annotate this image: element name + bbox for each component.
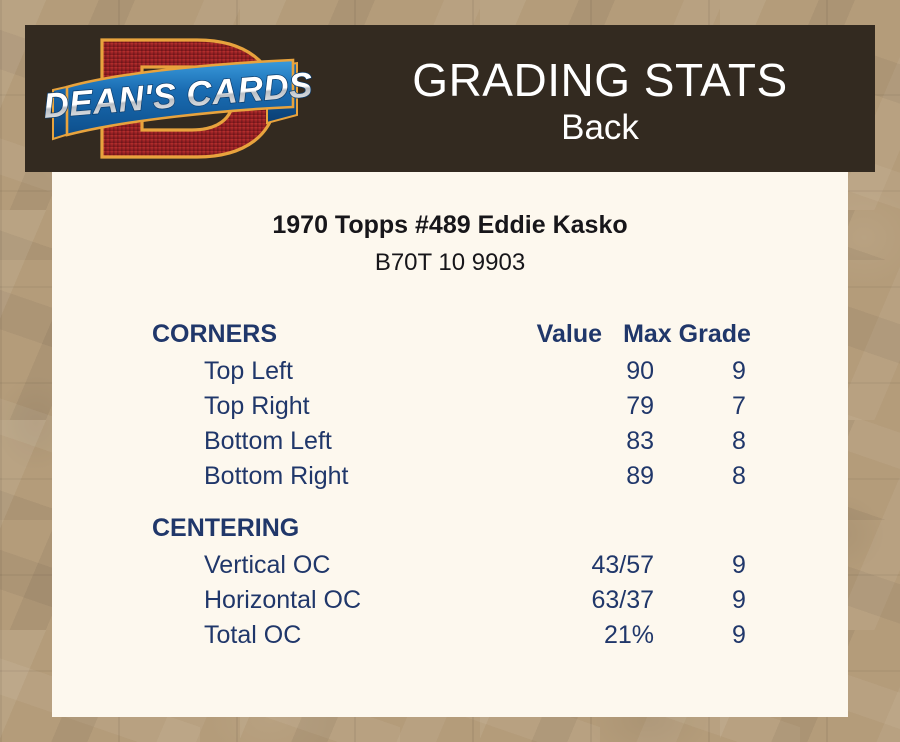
table-row: Top Left 90 9 — [152, 354, 848, 389]
table-row: Top Right 79 7 — [152, 389, 848, 424]
row-max-grade: 8 — [654, 424, 824, 459]
page-subtitle: Back — [561, 106, 639, 150]
row-value: 83 — [524, 424, 654, 459]
grading-stats-page: DEAN'S CARDS GRADING STATS Back 1970 Top… — [0, 0, 900, 742]
row-max-grade: 9 — [654, 354, 824, 389]
table-row: Vertical OC 43/57 9 — [152, 548, 848, 583]
header-bar: DEAN'S CARDS GRADING STATS Back — [25, 25, 875, 172]
row-label: Vertical OC — [152, 548, 524, 583]
section-title-corners: CORNERS — [152, 314, 472, 354]
row-max-grade: 9 — [654, 548, 824, 583]
header-title-block: GRADING STATS Back — [325, 25, 875, 172]
section-title-centering: CENTERING — [152, 508, 472, 548]
row-value: 90 — [524, 354, 654, 389]
section-spacer — [152, 494, 848, 508]
table-row: Bottom Right 89 8 — [152, 459, 848, 494]
row-value: 43/57 — [524, 548, 654, 583]
table-row: Horizontal OC 63/37 9 — [152, 583, 848, 618]
row-label: Horizontal OC — [152, 583, 524, 618]
deans-cards-logo: DEAN'S CARDS — [45, 27, 313, 170]
row-max-grade: 9 — [654, 583, 824, 618]
section-header-centering: CENTERING — [152, 508, 848, 548]
row-max-grade: 8 — [654, 459, 824, 494]
row-value: 79 — [524, 389, 654, 424]
table-row: Bottom Left 83 8 — [152, 424, 848, 459]
row-label: Top Right — [152, 389, 524, 424]
row-value: 89 — [524, 459, 654, 494]
row-value: 21% — [524, 618, 654, 653]
row-label: Bottom Right — [152, 459, 524, 494]
row-max-grade: 7 — [654, 389, 824, 424]
card-title: 1970 Topps #489 Eddie Kasko — [52, 210, 848, 240]
card-serial-number: B70T 10 9903 — [52, 248, 848, 278]
column-header-value: Value — [472, 314, 602, 354]
section-header-corners: CORNERS Value Max Grade — [152, 314, 848, 354]
row-label: Total OC — [152, 618, 524, 653]
content-panel: 1970 Topps #489 Eddie Kasko B70T 10 9903… — [52, 172, 848, 717]
row-label: Bottom Left — [152, 424, 524, 459]
column-header-max-grade: Max Grade — [602, 314, 772, 354]
row-value: 63/37 — [524, 583, 654, 618]
table-row: Total OC 21% 9 — [152, 618, 848, 653]
grading-stats-table: CORNERS Value Max Grade Top Left 90 9 To… — [52, 314, 848, 653]
row-label: Top Left — [152, 354, 524, 389]
page-title: GRADING STATS — [412, 54, 787, 106]
row-max-grade: 9 — [654, 618, 824, 653]
